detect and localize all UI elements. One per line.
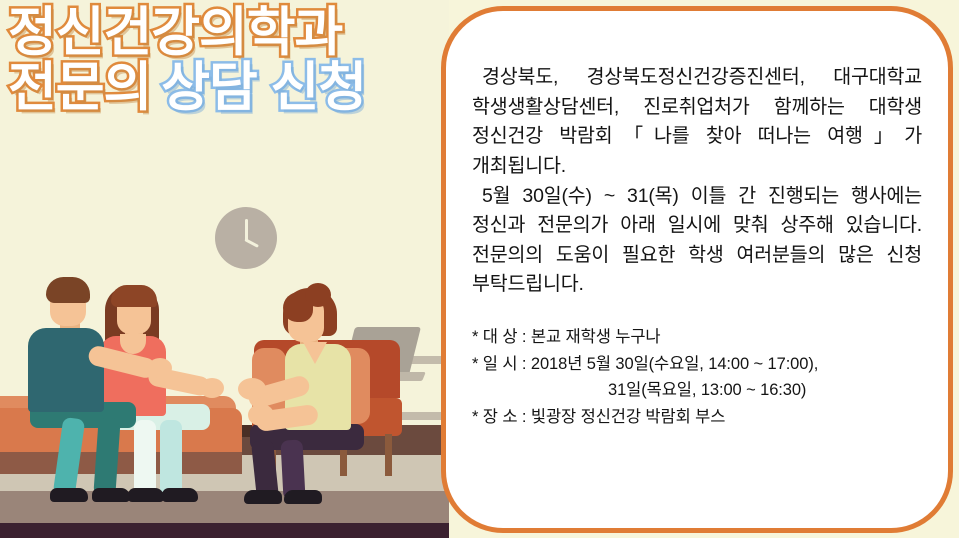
poster-root: 정신건강의학과 전문의상담 신청 경상북도, 경상북도정신건강증진센터, 대구대… bbox=[0, 0, 959, 538]
info-panel-content: 경상북도, 경상북도정신건강증진센터, 대구대학교 학생생활상담센터, 진로취업… bbox=[446, 11, 948, 451]
sofa-shadow bbox=[0, 452, 242, 474]
woman-hand bbox=[200, 378, 224, 398]
woman-hair-front bbox=[111, 285, 157, 307]
therapist-shoe bbox=[244, 490, 282, 504]
woman-leg bbox=[160, 420, 182, 496]
woman-leg bbox=[134, 420, 156, 496]
title-line-2-primary: 전문의 bbox=[8, 61, 151, 114]
clock-hand-hour bbox=[244, 238, 259, 248]
therapist-hair-bun bbox=[305, 283, 331, 307]
man-hair bbox=[46, 277, 90, 303]
paragraph-intro: 경상북도, 경상북도정신건강증진센터, 대구대학교 학생생활상담센터, 진로취업… bbox=[472, 63, 922, 182]
paragraph-schedule: 5월 30일(수) ~ 31(목) 이틀 간 진행되는 행사에는 정신과 전문의… bbox=[472, 182, 922, 301]
title-line-2: 전문의상담 신청 bbox=[8, 61, 448, 114]
woman-shoe bbox=[162, 488, 198, 502]
man-shoe bbox=[92, 488, 130, 502]
man-hand bbox=[148, 358, 172, 378]
woman-shoe bbox=[128, 488, 164, 502]
title-line-2-highlight: 상담 신청 bbox=[161, 61, 366, 114]
detail-list: * 대 상 : 본교 재학생 누구나 * 일 시 : 2018년 5월 30일(… bbox=[472, 324, 922, 431]
detail-target: * 대 상 : 본교 재학생 누구나 bbox=[472, 324, 922, 351]
detail-datetime-day2: 31일(목요일, 13:00 ~ 16:30) bbox=[472, 377, 922, 404]
floor-band-dark bbox=[0, 523, 449, 538]
detail-location: * 장 소 : 빛광장 정신건강 박람회 부스 bbox=[472, 404, 922, 431]
armchair-leg bbox=[385, 434, 392, 476]
therapist-hand-lower bbox=[248, 404, 274, 426]
man-shoe bbox=[50, 488, 88, 502]
title-line-1: 정신건강의학과 bbox=[8, 6, 448, 59]
man-torso bbox=[28, 328, 104, 412]
therapist-hand-upper bbox=[238, 378, 266, 400]
poster-title: 정신건강의학과 전문의상담 신청 bbox=[8, 6, 448, 114]
wall-clock-icon bbox=[215, 207, 277, 269]
info-panel: 경상북도, 경상북도정신건강증진센터, 대구대학교 학생생활상담센터, 진로취업… bbox=[441, 6, 953, 533]
detail-datetime-day1: * 일 시 : 2018년 5월 30일(수요일, 14:00 ~ 17:00)… bbox=[472, 351, 922, 378]
therapist-shoe bbox=[284, 490, 322, 504]
